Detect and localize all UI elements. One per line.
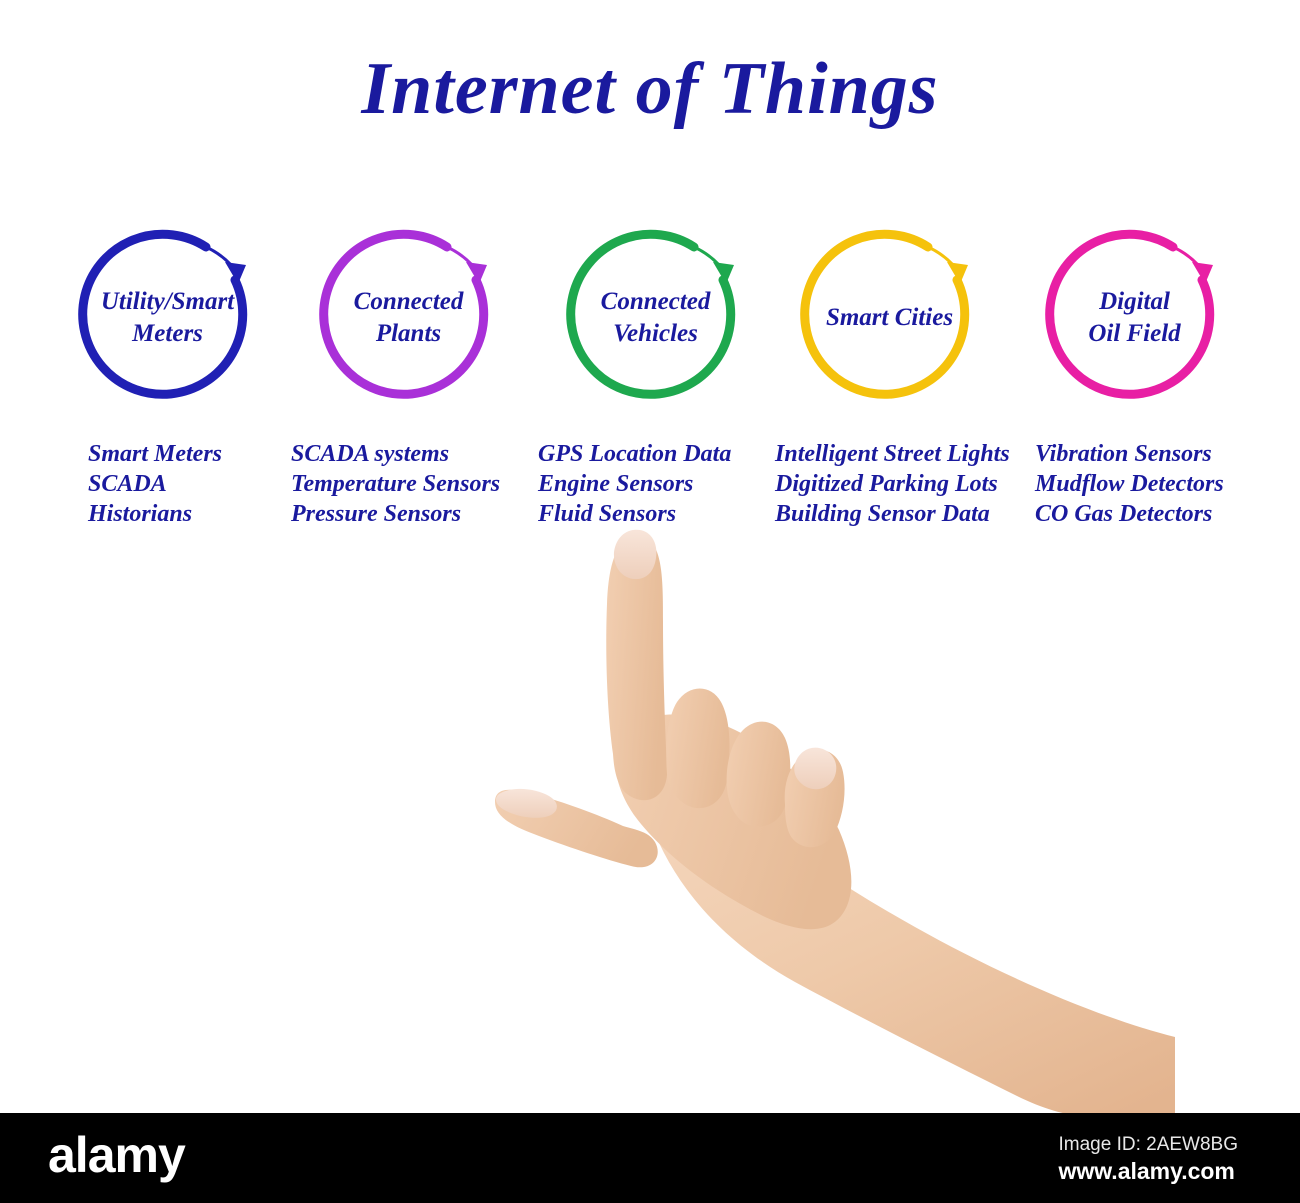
item-list: Vibration Sensors Mudflow Detectors CO G… — [1035, 439, 1262, 529]
circular-arrow-icon — [797, 225, 982, 410]
alamy-logo: alamy — [48, 1130, 185, 1180]
iot-diagram-page: Internet of Things — [0, 0, 1300, 1203]
list-item: CO Gas Detectors — [1035, 499, 1262, 529]
list-item: Pressure Sensors — [291, 499, 533, 529]
little-finger — [785, 750, 845, 847]
list-item: GPS Location Data — [538, 439, 775, 469]
palm — [615, 715, 852, 930]
little-fingernail — [794, 748, 836, 790]
thumb — [495, 790, 658, 868]
list-item: SCADA — [88, 469, 307, 499]
list-item: SCADA systems — [291, 439, 533, 469]
footer-meta: Image ID: 2AEW8BG www.alamy.com — [1058, 1133, 1238, 1187]
category-connected-vehicles[interactable]: Connected Vehicles GPS Location Data Eng… — [530, 225, 775, 529]
circular-arrow-icon — [563, 225, 748, 410]
circular-arrow-icon — [316, 225, 501, 410]
image-id-label: Image ID: 2AEW8BG — [1058, 1133, 1238, 1157]
item-list: SCADA systems Temperature Sensors Pressu… — [291, 439, 533, 529]
circular-arrow-icon — [75, 225, 260, 410]
list-item: Fluid Sensors — [538, 499, 775, 529]
list-item: Temperature Sensors — [291, 469, 533, 499]
item-list: Smart Meters SCADA Historians — [88, 439, 307, 529]
hand-illustration — [495, 512, 1175, 1117]
thumbnail — [496, 789, 557, 818]
ring-digital-oil-field[interactable]: Digital Oil Field — [1042, 225, 1227, 410]
ring-finger — [727, 722, 791, 827]
index-finger — [606, 537, 667, 800]
list-item: Digitized Parking Lots — [775, 469, 1015, 499]
middle-finger — [666, 689, 729, 809]
category-columns: Utility/Smart Meters Smart Meters SCADA … — [0, 225, 1300, 545]
category-utility-smart-meters[interactable]: Utility/Smart Meters Smart Meters SCADA … — [62, 225, 307, 529]
list-item: Engine Sensors — [538, 469, 775, 499]
alamy-url: www.alamy.com — [1058, 1157, 1238, 1187]
page-title: Internet of Things — [0, 52, 1300, 126]
ring-utility-smart-meters[interactable]: Utility/Smart Meters — [75, 225, 260, 410]
list-item: Building Sensor Data — [775, 499, 1015, 529]
list-item: Smart Meters — [88, 439, 307, 469]
category-smart-cities[interactable]: Smart Cities Intelligent Street Lights D… — [770, 225, 1015, 529]
category-digital-oil-field[interactable]: Digital Oil Field Vibration Sensors Mudf… — [1017, 225, 1262, 529]
item-list: GPS Location Data Engine Sensors Fluid S… — [538, 439, 775, 529]
list-item: Vibration Sensors — [1035, 439, 1262, 469]
ring-smart-cities[interactable]: Smart Cities — [797, 225, 982, 410]
list-item: Intelligent Street Lights — [775, 439, 1015, 469]
forearm — [647, 804, 1175, 1117]
circular-arrow-icon — [1042, 225, 1227, 410]
category-connected-plants[interactable]: Connected Plants SCADA systems Temperatu… — [288, 225, 533, 529]
item-list: Intelligent Street Lights Digitized Park… — [775, 439, 1015, 529]
watermark-footer: alamy Image ID: 2AEW8BG www.alamy.com — [0, 1113, 1300, 1203]
ring-connected-plants[interactable]: Connected Plants — [316, 225, 501, 410]
pointing-hand-photo — [495, 512, 1175, 1117]
ring-connected-vehicles[interactable]: Connected Vehicles — [563, 225, 748, 410]
list-item: Historians — [88, 499, 307, 529]
list-item: Mudflow Detectors — [1035, 469, 1262, 499]
